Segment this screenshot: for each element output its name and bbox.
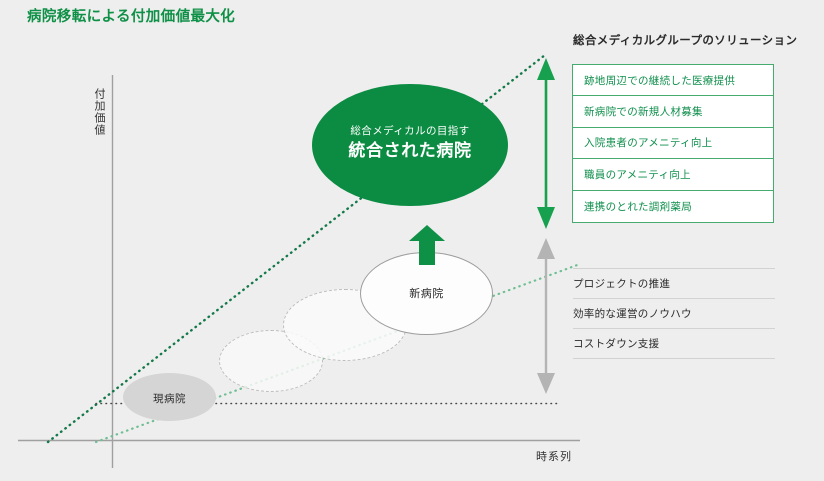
support-item[interactable]: 効率的な運営のノウハウ (573, 298, 775, 328)
support-item[interactable]: プロジェクトの推進 (573, 268, 775, 298)
goal-subtitle: 総合メディカルの目指す (312, 125, 508, 139)
ellipse-label-new-hospital: 新病院 (360, 285, 493, 301)
infographic-root: 病院移転による付加価値最大化 (0, 0, 824, 481)
solution-item[interactable]: 跡地周辺での継続した医療提供 (573, 65, 773, 96)
solution-item[interactable]: 入院患者のアメニティ向上 (573, 128, 773, 159)
solution-item[interactable]: 連携のとれた調剤薬局 (573, 191, 773, 222)
ellipse-goal-text: 総合メディカルの目指す 統合された病院 (312, 125, 508, 163)
double-arrow-vertical-green-icon (537, 58, 555, 229)
solution-item[interactable]: 新病院での新規人材募集 (573, 96, 773, 127)
support-list-bottom-rule (573, 358, 775, 359)
chart-vector-layer (0, 0, 580, 481)
goal-title: 統合された病院 (312, 139, 508, 164)
support-item[interactable]: コストダウン支援 (573, 328, 775, 358)
x-axis-label: 時系列 (536, 448, 572, 464)
y-axis-label: 付加価値 (90, 88, 106, 136)
solutions-box: 跡地周辺での継続した医療提供 新病院での新規人材募集 入院患者のアメニティ向上 … (572, 64, 774, 223)
support-list: プロジェクトの推進 効率的な運営のノウハウ コストダウン支援 (573, 268, 775, 359)
double-arrow-vertical-gray-icon (537, 238, 555, 394)
solutions-heading: 総合メディカルグループのソリューション (573, 32, 797, 48)
solution-item[interactable]: 職員のアメニティ向上 (573, 159, 773, 190)
chart-area: 付加価値 時系列 現病院 新病院 総合メディカルの目指す 統合された病院 (0, 0, 580, 481)
ellipse-label-current-hospital: 現病院 (123, 391, 216, 406)
arrow-up-icon (409, 225, 445, 265)
